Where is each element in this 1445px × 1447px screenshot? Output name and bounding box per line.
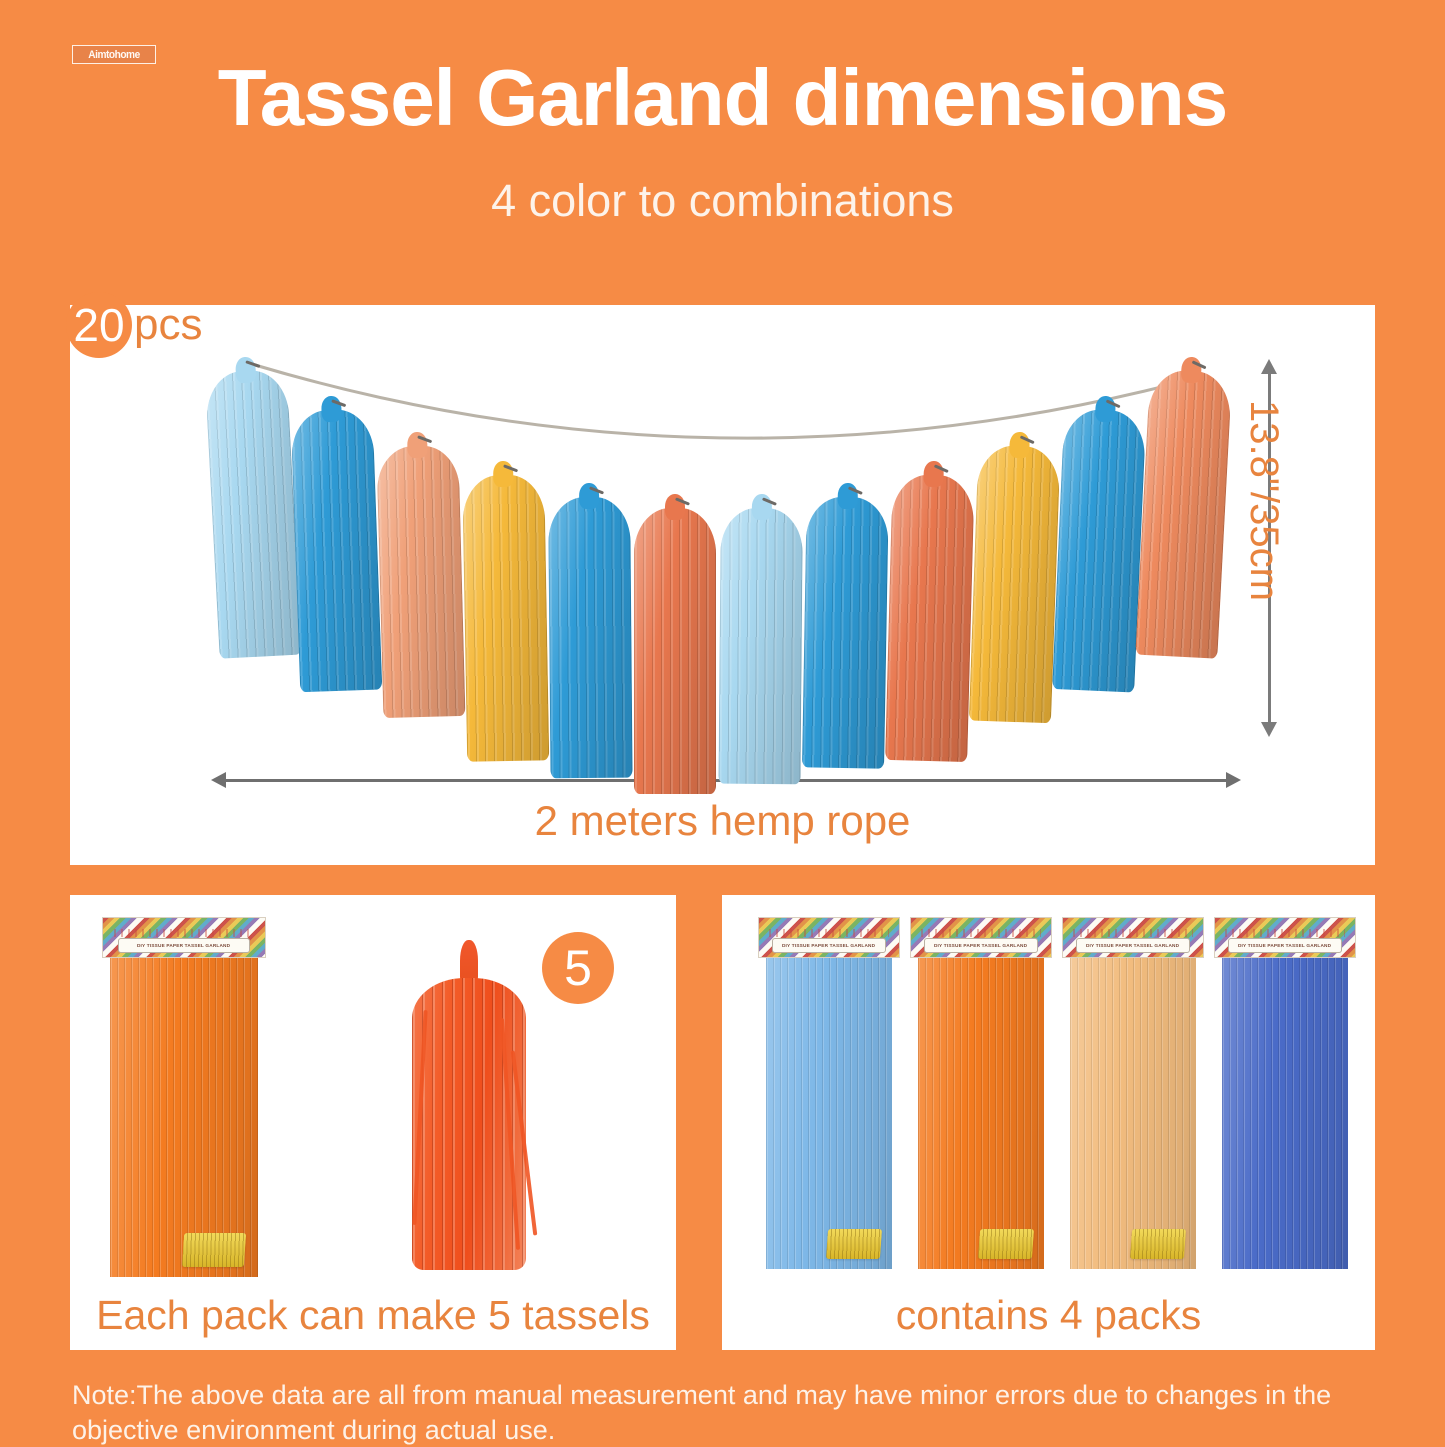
tassel-knot	[1095, 395, 1116, 422]
disclaimer-note: Note:The above data are all from manual …	[72, 1378, 1402, 1447]
tassel	[1135, 355, 1233, 659]
pack-sheet: DIY TISSUE PAPER TASSEL GARLAND	[1222, 917, 1348, 1269]
quantity-badge-unit: pcs	[134, 303, 202, 347]
rope-bundle-icon	[1130, 1229, 1186, 1259]
tassel	[462, 461, 549, 762]
tassel-fringe	[1135, 369, 1232, 659]
tassel-fringe	[205, 369, 302, 659]
tassel	[376, 431, 465, 718]
pack-sheet-orange: DIY TISSUE PAPER TASSEL GARLAND	[110, 917, 258, 1277]
tassel	[1052, 394, 1147, 692]
pack-header-card: DIY TISSUE PAPER TASSEL GARLAND	[1214, 917, 1356, 958]
tassel-fringe	[718, 507, 802, 784]
tassel-fringe	[969, 444, 1061, 723]
pack-fringe-body	[110, 955, 258, 1277]
page-subtitle: 4 color to combinations	[0, 178, 1445, 223]
pack-label-text: DIY TISSUE PAPER TASSEL GARLAND	[782, 943, 875, 949]
pack-sheet: DIY TISSUE PAPER TASSEL GARLAND	[766, 917, 892, 1269]
pack-label-text: DIY TISSUE PAPER TASSEL GARLAND	[1086, 943, 1179, 949]
pack-sheet: DIY TISSUE PAPER TASSEL GARLAND	[918, 917, 1044, 1269]
pack-fringe-body	[766, 955, 892, 1269]
pack-label-text: DIY TISSUE PAPER TASSEL GARLAND	[1238, 943, 1331, 949]
pack-header-card: DIY TISSUE PAPER TASSEL GARLAND	[102, 917, 266, 958]
rope-bundle-icon	[181, 1233, 245, 1267]
tassel-fringe	[463, 475, 550, 762]
height-dimension-label: 13.8"/35cm	[1241, 400, 1286, 601]
pack-header-card: DIY TISSUE PAPER TASSEL GARLAND	[758, 917, 900, 958]
tassel-fringe	[885, 474, 974, 762]
tassel	[969, 430, 1061, 723]
tassel-fringe	[802, 496, 889, 768]
tassel	[718, 493, 803, 784]
pack-label-text: DIY TISSUE PAPER TASSEL GARLAND	[934, 943, 1027, 949]
rope-bundle-icon	[826, 1229, 882, 1259]
bunting-icon	[769, 929, 889, 937]
tassel-fringe	[291, 408, 383, 692]
bunting-icon	[1073, 929, 1193, 937]
tassel	[802, 482, 889, 768]
pack-sheet: DIY TISSUE PAPER TASSEL GARLAND	[1070, 917, 1196, 1269]
tassel-knot	[751, 494, 771, 520]
tassel-knot	[1181, 356, 1202, 383]
tassel	[885, 460, 975, 762]
pack-detail-caption: Each pack can make 5 tassels	[70, 1295, 676, 1336]
bunting-icon	[921, 929, 1041, 937]
bunting-icon	[114, 929, 253, 937]
pack-fringe-body	[918, 955, 1044, 1269]
pack-label-plate: DIY TISSUE PAPER TASSEL GARLAND	[772, 938, 887, 953]
tassel-knot	[923, 461, 944, 488]
pack-label-text: DIY TISSUE PAPER TASSEL GARLAND	[137, 943, 230, 949]
tassel-fringe	[634, 508, 716, 794]
tassel-fringe	[548, 496, 632, 778]
four-packs-panel: DIY TISSUE PAPER TASSEL GARLANDDIY TISSU…	[722, 895, 1375, 1350]
pack-label-plate: DIY TISSUE PAPER TASSEL GARLAND	[1076, 938, 1191, 953]
tassel-knot	[1009, 431, 1030, 458]
rope-bundle-icon	[978, 1229, 1034, 1259]
quantity-badge-20pcs: 20 pcs	[66, 292, 226, 358]
pack-label-plate: DIY TISSUE PAPER TASSEL GARLAND	[118, 938, 251, 953]
page-title: Tassel Garland dimensions	[0, 58, 1445, 138]
tassels-per-pack-badge: 5	[542, 932, 614, 1004]
pack-header-card: DIY TISSUE PAPER TASSEL GARLAND	[1062, 917, 1204, 958]
four-packs-caption: contains 4 packs	[722, 1295, 1375, 1336]
width-dimension-label: 2 meters hemp rope	[0, 797, 1445, 845]
tassel	[204, 355, 302, 659]
pack-fringe-body	[1070, 955, 1196, 1269]
quantity-badge-number: 20	[66, 292, 132, 358]
pack-label-plate: DIY TISSUE PAPER TASSEL GARLAND	[1228, 938, 1343, 953]
tassel	[290, 394, 382, 692]
tassel-fringe	[377, 445, 466, 718]
pack-header-card: DIY TISSUE PAPER TASSEL GARLAND	[910, 917, 1052, 958]
tassel-knot	[837, 482, 857, 508]
pack-label-plate: DIY TISSUE PAPER TASSEL GARLAND	[924, 938, 1039, 953]
tassel-fringe	[1052, 408, 1146, 692]
single-tassel-illustration	[404, 940, 534, 1270]
bunting-icon	[1225, 929, 1345, 937]
pack-fringe-body	[1222, 955, 1348, 1269]
tassel	[634, 494, 716, 794]
tassel	[548, 482, 633, 778]
